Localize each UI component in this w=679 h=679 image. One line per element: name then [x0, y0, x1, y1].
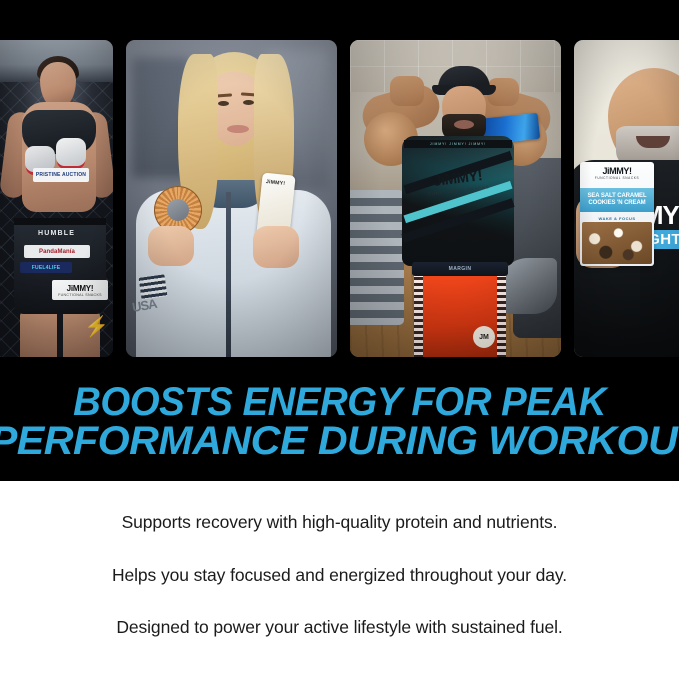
- jacket-zipper: [226, 192, 231, 357]
- package-flavor-line-1: SEA SALT CARAMEL: [587, 193, 646, 200]
- benefit-line-2: Helps you stay focused and energized thr…: [0, 567, 679, 585]
- package-tagline: WAKE & FOCUS: [580, 216, 654, 221]
- photo-fan-holding-package: JiMMY! FIGHT JiMMY! FUNCTIONAL SNACKS SE…: [574, 40, 679, 357]
- headline-line-2: PERFORMANCE DURING WORKOUTS.: [0, 421, 679, 462]
- sponsor-jimmy-sub: FUNCTIONAL SNACKS: [58, 293, 102, 297]
- benefit-line-3: Designed to power your active lifestyle …: [0, 619, 679, 637]
- shorts-emblem: JM: [473, 326, 495, 348]
- hero-section: PRISTINE AUCTION HUMBLE PandaManía FUEL4…: [0, 0, 679, 481]
- athlete-fight-shorts: [414, 274, 506, 357]
- package-food-photo: [582, 222, 652, 264]
- medalist-left-eye: [218, 101, 229, 106]
- athlete-left-fist: [390, 76, 424, 106]
- medalist-right-eye: [243, 100, 254, 105]
- sponsor-patch-pandamania: PandaManía: [24, 245, 90, 258]
- fighter-leg-gap: [57, 312, 63, 357]
- sponsor-jimmy-brand: JiMMY!: [67, 284, 94, 293]
- medalist-lips: [227, 125, 249, 133]
- sponsor-patch-jimmy: JiMMY! FUNCTIONAL SNACKS: [52, 280, 108, 300]
- sponsor-patch-fuel4life: FUEL4LIFE: [20, 262, 72, 273]
- chest-sponsor-patch: PRISTINE AUCTION: [33, 168, 89, 182]
- package-flavor-line-2: COOKIES 'N CREAM: [588, 200, 645, 207]
- package-brand: JiMMY!: [580, 166, 654, 176]
- lightning-bolt-icon: ⚡: [84, 314, 109, 339]
- olympic-medal-center: [167, 199, 189, 221]
- photo-olympic-medalist-with-bar: JiMMY! USA: [126, 40, 337, 357]
- shorts-stripe-right: [497, 274, 506, 357]
- photo-mma-fighter-in-cage: PRISTINE AUCTION HUMBLE PandaManía FUEL4…: [0, 40, 113, 357]
- shoulder-band-text: JIMMY! JIMMY! JIMMY!: [404, 140, 512, 148]
- snack-package-product: JiMMY! FUNCTIONAL SNACKS SEA SALT CARAME…: [580, 162, 654, 266]
- benefit-line-1: Supports recovery with high-quality prot…: [0, 514, 679, 532]
- package-subtitle: FUNCTIONAL SNACKS: [580, 176, 654, 180]
- benefits-section: Supports recovery with high-quality prot…: [0, 481, 679, 679]
- fighter-waistband: [14, 218, 106, 225]
- headline: BOOSTS ENERGY FOR PEAK PERFORMANCE DURIN…: [0, 382, 679, 462]
- shorts-waistband: MARGIN: [412, 262, 508, 276]
- athlete-photo-strip: PRISTINE AUCTION HUMBLE PandaManía FUEL4…: [0, 40, 679, 357]
- athlete-mouth: [454, 120, 474, 129]
- package-flavor-band: SEA SALT CARAMEL COOKIES 'N CREAM: [580, 188, 654, 212]
- shorts-humble-label: HUMBLE: [38, 230, 75, 237]
- product-benefits-banner: PRISTINE AUCTION HUMBLE PandaManía FUEL4…: [0, 0, 679, 679]
- weight-plate-stack: [350, 190, 404, 325]
- photo-athlete-flexing-in-gym: JIMMY! JIMMY! JIMMY! JiMMY! FUNCTIONAL S…: [350, 40, 561, 357]
- medalist-left-hand: [148, 226, 194, 266]
- shorts-stripe-left: [414, 274, 423, 357]
- headline-line-1: BOOSTS ENERGY FOR PEAK: [14, 382, 666, 423]
- fighter-right-glove: [56, 138, 86, 166]
- medalist-right-hand: [253, 226, 299, 268]
